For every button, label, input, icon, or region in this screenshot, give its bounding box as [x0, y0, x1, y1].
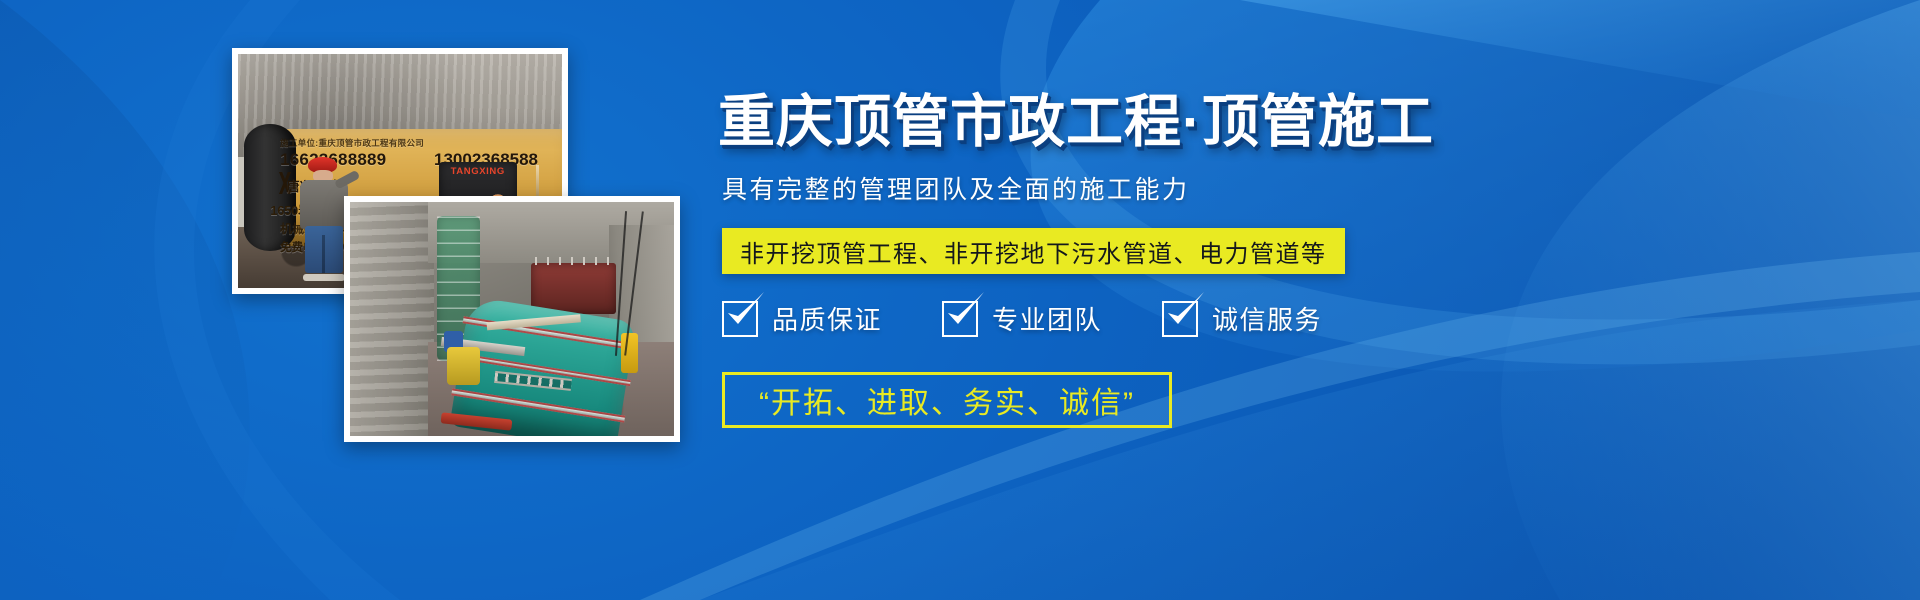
worker-shoes [303, 274, 345, 281]
machine-company-line: 施工单位:重庆顶管市政工程有限公司 [280, 137, 424, 149]
feature-label: 诚信服务 [1212, 300, 1322, 337]
service-scope-band: 非开挖顶管工程、非开挖地下污水管道、电力管道等 [722, 228, 1345, 274]
shaft-left-wall [350, 202, 434, 436]
promo-banner: 施工单位:重庆顶管市政工程有限公司 16623688889 1300236858… [0, 0, 1920, 600]
construction-shaft-photo[interactable] [344, 196, 680, 442]
checkmark-glyph [943, 290, 987, 334]
banner-title: 重庆顶管市政工程·顶管施工 [718, 94, 1434, 151]
service-scope-text: 非开挖顶管工程、非开挖地下污水管道、电力管道等 [740, 234, 1327, 269]
yellow-lifting-hook [621, 333, 639, 373]
banner-content: 重庆顶管市政工程·顶管施工 具有完整的管理团队及全面的施工能力 非开挖顶管工程、… [718, 0, 1920, 600]
feature-item-quality[interactable]: 品质保证 [722, 300, 882, 337]
tangxing-logo-text: TANGXING [444, 167, 512, 186]
checkmark-icon [722, 301, 758, 337]
feature-label: 品质保证 [772, 300, 882, 337]
checkmark-glyph [1163, 290, 1207, 334]
feature-item-team[interactable]: 专业团队 [942, 300, 1102, 337]
feature-label: 专业团队 [992, 300, 1102, 337]
photo-collage: 施工单位:重庆顶管市政工程有限公司 16623688889 1300236858… [0, 0, 720, 600]
feature-item-service[interactable]: 诚信服务 [1162, 300, 1322, 337]
checkmark-icon [1162, 301, 1198, 337]
slogan-text: “开拓、进取、务实、诚信” [759, 378, 1135, 422]
slogan-box: “开拓、进取、务实、诚信” [722, 372, 1172, 428]
yellow-valve [447, 347, 479, 384]
feature-list: 品质保证 专业团队 诚信服务 [722, 300, 1322, 337]
checkmark-glyph [723, 290, 767, 334]
jacking-frame-head [531, 263, 615, 314]
worker-jeans [305, 226, 342, 272]
banner-subtitle: 具有完整的管理团队及全面的施工能力 [722, 170, 1190, 206]
checkmark-icon [942, 301, 978, 337]
